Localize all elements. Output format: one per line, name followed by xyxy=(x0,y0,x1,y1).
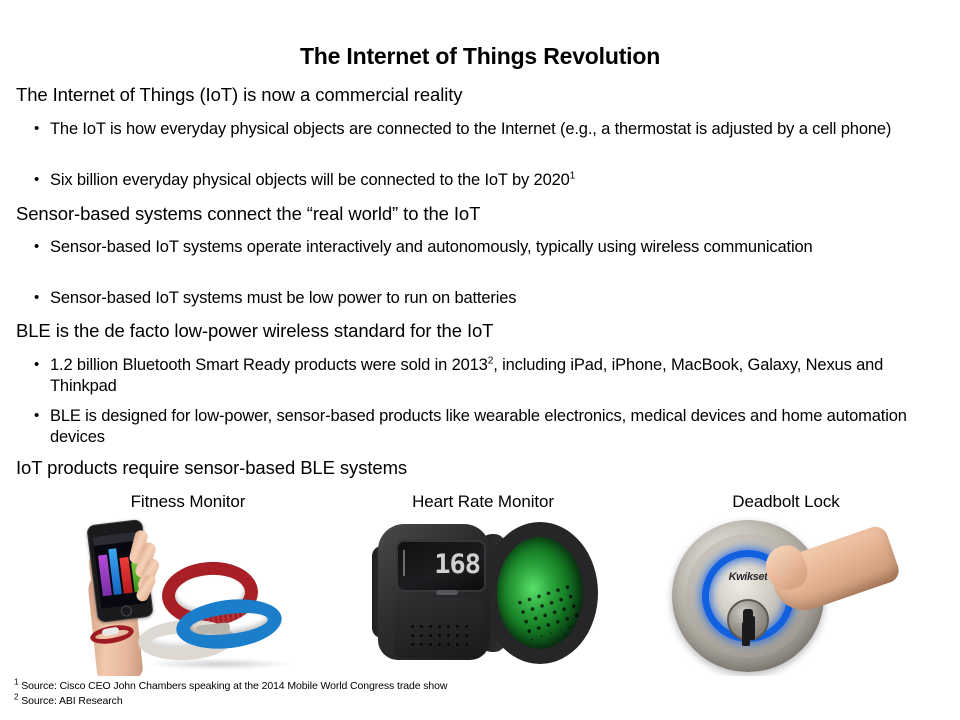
caption-fitness-monitor: Fitness Monitor xyxy=(88,492,288,512)
bullet-1-1-text: The IoT is how everyday physical objects… xyxy=(50,120,891,138)
band-shadow xyxy=(144,658,294,670)
lock-keyhole xyxy=(727,599,769,641)
bullet-2-1: Sensor-based IoT systems operate interac… xyxy=(30,237,935,258)
section-heading-4: IoT products require sensor-based BLE sy… xyxy=(16,457,946,480)
footnote-1-text: Source: Cisco CEO John Chambers speaking… xyxy=(18,680,447,692)
caption-heart-rate-monitor: Heart Rate Monitor xyxy=(383,492,583,512)
bullet-1-2-superscript: 1 xyxy=(570,171,576,182)
watch-button xyxy=(436,590,458,595)
bullet-2-1-text: Sensor-based IoT systems operate interac… xyxy=(50,238,813,256)
bullet-3-1: 1.2 billion Bluetooth Smart Ready produc… xyxy=(30,355,935,397)
section-heading-3: BLE is the de facto low-power wireless s… xyxy=(16,320,946,343)
image-deadbolt-lock: Kwikset xyxy=(654,516,904,676)
watch-sensor-vents xyxy=(514,581,585,641)
footnotes: 1 Source: Cisco CEO John Chambers speaki… xyxy=(14,679,447,709)
watch-display: 168 xyxy=(396,540,486,592)
section-heading-1: The Internet of Things (IoT) is now a co… xyxy=(16,84,946,107)
footnote-2: 2 Source: ABI Research xyxy=(14,694,447,709)
bullet-1-2: Six billion everyday physical objects wi… xyxy=(30,170,935,191)
caption-deadbolt-lock: Deadbolt Lock xyxy=(686,492,886,512)
bullet-3-1-text: 1.2 billion Bluetooth Smart Ready produc… xyxy=(50,356,488,374)
bullet-3-2: BLE is designed for low-power, sensor-ba… xyxy=(30,406,935,448)
bullet-3-2-text: BLE is designed for low-power, sensor-ba… xyxy=(50,407,907,446)
bullet-2-2: Sensor-based IoT systems must be low pow… xyxy=(30,288,935,309)
watch-front-body: 168 xyxy=(378,524,490,660)
bullet-1-1: The IoT is how everyday physical objects… xyxy=(30,119,935,140)
page-title: The Internet of Things Revolution xyxy=(0,44,960,69)
slide-canvas: The Internet of Things Revolution The In… xyxy=(0,0,960,720)
watch-vent-grid xyxy=(408,622,470,648)
bullet-2-2-text: Sensor-based IoT systems must be low pow… xyxy=(50,289,516,307)
bullet-1-2-text: Six billion everyday physical objects wi… xyxy=(50,171,570,189)
heart-rate-value: 168 xyxy=(398,551,480,578)
section-heading-2: Sensor-based systems connect the “real w… xyxy=(16,203,946,226)
watch-lower-housing xyxy=(394,598,484,658)
footnote-1: 1 Source: Cisco CEO John Chambers speaki… xyxy=(14,679,447,694)
image-fitness-monitor xyxy=(46,516,338,676)
phone-home-button xyxy=(120,605,132,617)
footnote-2-text: Source: ABI Research xyxy=(18,695,122,707)
watch-optical-sensor xyxy=(482,522,598,664)
image-heart-rate-monitor: 168 xyxy=(372,516,604,676)
